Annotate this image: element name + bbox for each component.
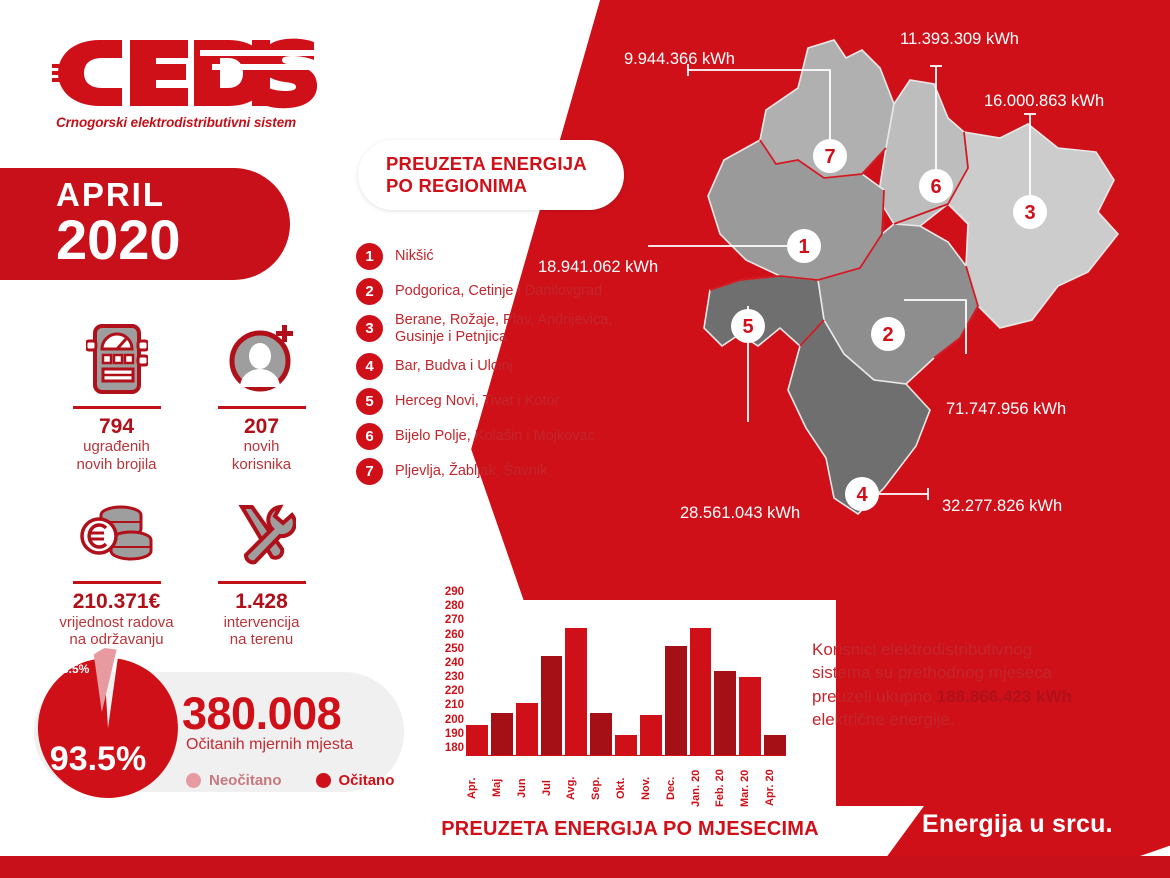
chart-x-label: Jul xyxy=(541,762,563,814)
chart-y-tick: 190 xyxy=(445,728,464,740)
legend-item-read: Očitano xyxy=(316,772,395,789)
pie-subtitle: Očitanih mjernih mjesta xyxy=(186,736,353,754)
svg-text:1: 1 xyxy=(798,236,809,258)
chart-bar xyxy=(665,646,687,755)
date-year: 2020 xyxy=(56,211,290,269)
chart-x-label: Sep. xyxy=(590,762,612,814)
chart-y-axis: 290280270260250240230220210200190180 xyxy=(430,586,464,756)
list-item[interactable]: 7 Pljevlja, Žabljak, Šavnik xyxy=(356,458,656,486)
summary-line4: električne energije. xyxy=(812,710,955,729)
chart-x-label: Mar. 20 xyxy=(739,762,761,814)
stat-divider xyxy=(73,406,161,409)
region-name: Herceg Novi, Tivat i Kotor xyxy=(395,393,559,410)
svg-text:2: 2 xyxy=(882,324,893,346)
stat-value: 210.371€ xyxy=(73,590,161,613)
stat-label: vrijednost radova na održavanju xyxy=(59,614,173,649)
chart-y-tick: 220 xyxy=(445,685,464,697)
stat-value: 1.428 xyxy=(235,590,288,613)
chart-bar xyxy=(565,628,587,756)
svg-text:7: 7 xyxy=(824,146,835,168)
map-value-6: 11.393.309 kWh xyxy=(900,30,1019,49)
stat-divider xyxy=(218,581,306,584)
chart-bar xyxy=(714,671,736,755)
chart-bar xyxy=(590,713,612,756)
chart-y-tick: 240 xyxy=(445,657,464,669)
map-value-4: 32.277.826 kWh xyxy=(942,497,1062,516)
pie-read-percent: 93.5% xyxy=(38,740,158,779)
stat-label-line2: korisnika xyxy=(232,456,291,473)
map-marker-5: 5 xyxy=(731,309,765,343)
chart-x-label: Maj xyxy=(491,762,513,814)
stat-label-line1: vrijednost radova xyxy=(59,614,173,631)
stat-divider xyxy=(73,581,161,584)
region-number-badge: 5 xyxy=(356,388,383,415)
chart-y-tick: 280 xyxy=(445,600,464,612)
date-banner: APRIL 2020 xyxy=(0,168,290,280)
brand-tagline: Crnogorski elektrodistributivni sistem xyxy=(56,115,352,130)
stat-maintenance-value: 210.371€ vrijednost radova na održavanju xyxy=(44,495,189,648)
regions-title-pill: PREUZETA ENERGIJA PO REGIONIMA xyxy=(358,140,624,210)
chart-bar xyxy=(690,628,712,756)
chart-y-tick: 290 xyxy=(445,586,464,598)
map-marker-7: 7 xyxy=(813,139,847,173)
date-month: APRIL xyxy=(56,178,290,211)
chart-bars xyxy=(466,585,786,755)
map-marker-1: 1 xyxy=(787,229,821,263)
chart-bar xyxy=(615,735,637,755)
region-name: Bar, Budva i Ulcinj xyxy=(395,358,513,375)
chart-bar xyxy=(516,703,538,755)
svg-text:5: 5 xyxy=(742,316,753,338)
stat-label: ugrađenih novih brojila xyxy=(76,438,156,473)
stat-divider xyxy=(218,406,306,409)
stat-label-line1: ugrađenih xyxy=(83,438,150,455)
chart-x-label: Apr. 20 xyxy=(764,762,786,814)
pie-unread-percent: 6.5% xyxy=(62,662,89,676)
legend-dot-read xyxy=(316,773,331,788)
euro-coins-icon xyxy=(79,495,155,573)
chart-x-label: Apr. xyxy=(466,762,488,814)
stat-label-line2: na terenu xyxy=(230,631,293,648)
summary-line3-prefix: preuzeli ukupno xyxy=(812,687,937,706)
list-item[interactable]: 3 Berane, Rožaje, Plav, Andrijevica, Gus… xyxy=(356,312,656,346)
brand-slogan: Energija u srcu. xyxy=(922,810,1113,839)
infographic-stage: Crnogorski elektrodistributivni sistem A… xyxy=(0,0,1170,878)
stat-label: novih korisnika xyxy=(232,438,291,473)
summary-text: Korisnici elektrodistributivnog sistema … xyxy=(812,638,1162,732)
stat-label: intervencija na terenu xyxy=(224,614,300,649)
region-number-badge: 3 xyxy=(356,315,383,342)
region-number-badge: 2 xyxy=(356,278,383,305)
map-value-7: 9.944.366 kWh xyxy=(624,50,735,69)
stats-row-2: 210.371€ vrijednost radova na održavanju xyxy=(44,495,334,648)
map-marker-6: 6 xyxy=(919,169,953,203)
stats-row-1: 794 ugrađenih novih brojila xyxy=(44,320,334,473)
summary-total: 188.866.423 kWh xyxy=(937,687,1072,706)
brand-logo: Crnogorski elektrodistributivni sistem xyxy=(52,34,352,142)
chart-y-tick: 250 xyxy=(445,643,464,655)
map-value-2: 71.747.956 kWh xyxy=(946,400,1066,419)
chart-x-label: Nov. xyxy=(640,762,662,814)
summary-line1: Korisnici elektrodistributivnog xyxy=(812,640,1032,659)
stat-value: 794 xyxy=(99,415,134,438)
chart-y-tick: 180 xyxy=(445,742,464,754)
region-number-badge: 1 xyxy=(356,243,383,270)
list-item[interactable]: 4 Bar, Budva i Ulcinj xyxy=(356,353,656,381)
map-value-1: 18.941.062 kWh xyxy=(524,254,672,282)
chart-y-tick: 210 xyxy=(445,699,464,711)
map-marker-2: 2 xyxy=(871,317,905,351)
stat-new-users: 207 novih korisnika xyxy=(189,320,334,473)
chart-y-tick: 230 xyxy=(445,671,464,683)
chart-plot-area xyxy=(466,586,786,756)
pie-legend: Neočitano Očitano xyxy=(186,772,394,789)
legend-label-unread: Neočitano xyxy=(209,772,282,789)
chart-x-axis-labels: Apr.MajJunJulAvg.Sep.Okt.Nov.Dec.Jan. 20… xyxy=(466,762,786,814)
chart-bar xyxy=(739,677,761,755)
chart-y-tick: 270 xyxy=(445,614,464,626)
stat-meters: 794 ugrađenih novih brojila xyxy=(44,320,189,473)
chart-y-tick: 200 xyxy=(445,714,464,726)
svg-text:4: 4 xyxy=(856,484,868,506)
chart-title: PREUZETA ENERGIJA PO MJESECIMA xyxy=(430,818,830,841)
legend-label-read: Očitano xyxy=(339,772,395,789)
region-name: Bijelo Polje, Kolašin i Mojkovac xyxy=(395,428,595,445)
chart-bar xyxy=(466,725,488,755)
list-item[interactable]: 6 Bijelo Polje, Kolašin i Mojkovac xyxy=(356,423,656,451)
stats-grid: 794 ugrađenih novih brojila xyxy=(44,320,334,649)
map-value-3: 16.000.863 kWh xyxy=(984,92,1104,111)
regions-title-line1: PREUZETA ENERGIJA xyxy=(386,153,624,175)
chart-x-label: Jan. 20 xyxy=(690,762,712,814)
legend-item-unread: Neočitano xyxy=(186,772,282,789)
cedis-logo-icon xyxy=(52,34,320,112)
stat-value: 207 xyxy=(244,415,279,438)
chart-bar xyxy=(541,656,563,755)
chart-x-label: Jun xyxy=(516,762,538,814)
tools-icon xyxy=(228,495,296,573)
map-value-5: 28.561.043 kWh xyxy=(666,500,814,528)
stat-label-line1: novih xyxy=(244,438,280,455)
stat-label-line2: novih brojila xyxy=(76,456,156,473)
stat-label-line1: intervencija xyxy=(224,614,300,631)
user-plus-icon xyxy=(227,320,297,398)
map-marker-3: 3 xyxy=(1013,195,1047,229)
chart-x-label: Feb. 20 xyxy=(714,762,736,814)
region-name: Podgorica, Cetinje i Danilovgrad xyxy=(395,283,602,300)
region-number-badge: 6 xyxy=(356,423,383,450)
chart-x-label: Okt. xyxy=(615,762,637,814)
region-number-badge: 4 xyxy=(356,353,383,380)
legend-dot-unread xyxy=(186,773,201,788)
chart-x-label: Avg. xyxy=(565,762,587,814)
region-name: Berane, Rožaje, Plav, Andrijevica, Gusin… xyxy=(395,312,656,346)
regions-title-line2: PO REGIONIMA xyxy=(386,175,624,197)
region-name: Pljevlja, Žabljak, Šavnik xyxy=(395,463,547,480)
pie-big-number: 380.008 xyxy=(182,688,341,740)
svg-text:3: 3 xyxy=(1024,202,1035,224)
stat-interventions: 1.428 intervencija na terenu xyxy=(189,495,334,648)
electricity-meter-icon xyxy=(86,320,148,398)
list-item[interactable]: 5 Herceg Novi, Tivat i Kotor xyxy=(356,388,656,416)
map-marker-4: 4 xyxy=(845,477,879,511)
summary-line2: sistema su prethodnog mjeseca xyxy=(812,663,1052,682)
region-name: Nikšić xyxy=(395,248,434,265)
chart-bar xyxy=(764,735,786,755)
chart-x-label: Dec. xyxy=(665,762,687,814)
monthly-energy-bar-chart: 290280270260250240230220210200190180 Apr… xyxy=(430,586,790,816)
reading-pie-chart xyxy=(28,646,188,806)
chart-bar xyxy=(491,713,513,756)
chart-bar xyxy=(640,715,662,755)
svg-text:6: 6 xyxy=(930,176,941,198)
chart-y-tick: 260 xyxy=(445,629,464,641)
region-number-badge: 7 xyxy=(356,458,383,485)
